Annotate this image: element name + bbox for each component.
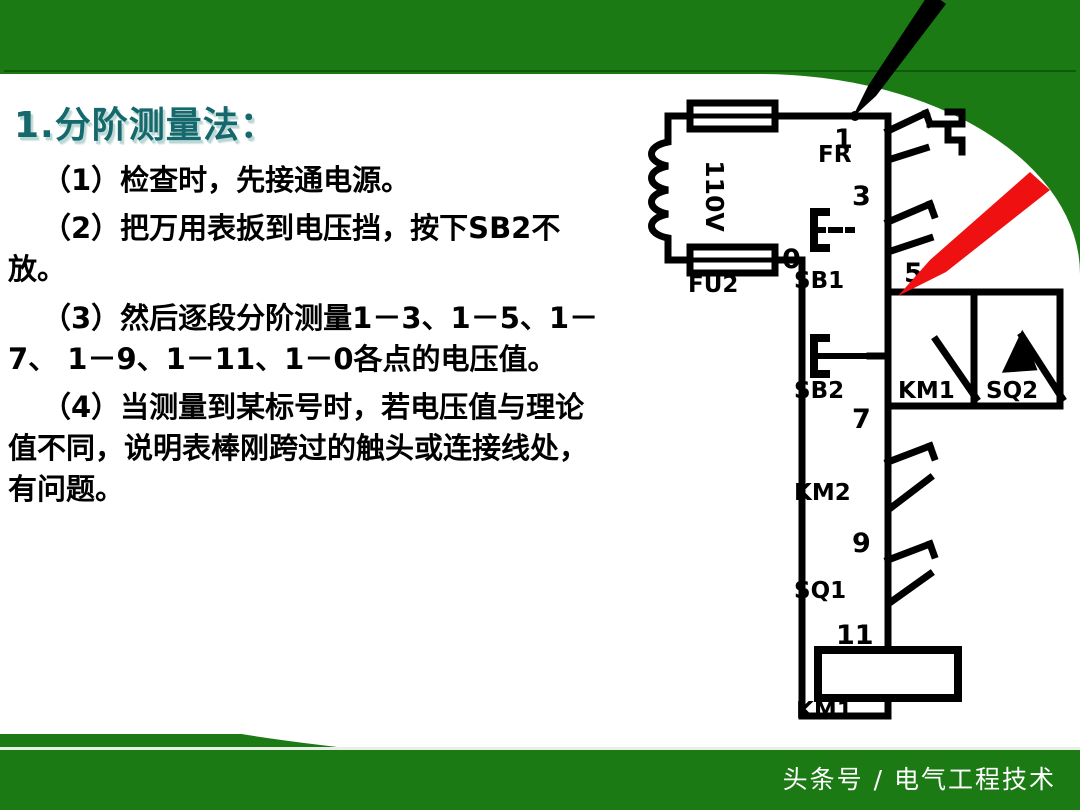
label-km1-contact: KM1	[898, 378, 955, 404]
sb1-actuator-symbol	[814, 212, 852, 248]
page-title: 1.分阶测量法：	[14, 96, 277, 148]
component-sb2-pushbutton-no	[814, 338, 888, 374]
red-probe	[898, 172, 1050, 296]
label-km1-coil: KM1	[796, 698, 853, 724]
black-probe	[852, 0, 946, 118]
paragraph-4: （4）当测量到某标号时，若电压值与理论值不同，说明表棒刚跨过的触头或连接线处，有…	[8, 387, 604, 511]
label-node-3: 3	[852, 181, 871, 212]
label-fr: FR	[818, 142, 852, 168]
component-km1-coil	[818, 650, 958, 698]
circuit-diagram: 1 0 3 5 7 9 11 FU2 FR SB1 SB2 KM1 SQ2 KM…	[630, 0, 1080, 760]
paragraph-2: （2）把万用表扳到电压挡，按下SB2不放。	[8, 208, 604, 290]
label-sq1: SQ1	[794, 578, 846, 604]
wire-node1-to-fr	[855, 116, 888, 131]
paragraph-1: （1）检查时，先接通电源。	[8, 160, 604, 201]
label-node-9: 9	[852, 528, 871, 559]
label-fu2: FU2	[688, 272, 738, 298]
component-fr-contact	[888, 113, 930, 208]
label-sb1: SB1	[794, 268, 844, 294]
footer-bar: 头条号 / 电气工程技术	[0, 750, 1080, 810]
paragraph-3: （3）然后逐段分阶测量1－3、1－5、1－7、 1－9、1－11、1－0各点的电…	[8, 298, 604, 380]
label-sq2: SQ2	[986, 378, 1038, 404]
label-node-11: 11	[836, 620, 874, 651]
transformer-coil	[652, 135, 669, 245]
label-sb2: SB2	[794, 378, 844, 404]
component-sq1-contact	[888, 544, 934, 650]
footer-attribution: 头条号 / 电气工程技术	[783, 760, 1056, 796]
fr-heater-symbol	[930, 112, 962, 152]
body-text-block: （1）检查时，先接通电源。 （2）把万用表扳到电压挡，按下SB2不放。 （3）然…	[8, 160, 604, 517]
label-node-7: 7	[852, 404, 871, 435]
label-source-voltage: 110V	[700, 160, 729, 232]
slide-root: 1.分阶测量法： （1）检查时，先接通电源。 （2）把万用表扳到电压挡，按下SB…	[0, 0, 1080, 810]
label-km2: KM2	[794, 480, 851, 506]
